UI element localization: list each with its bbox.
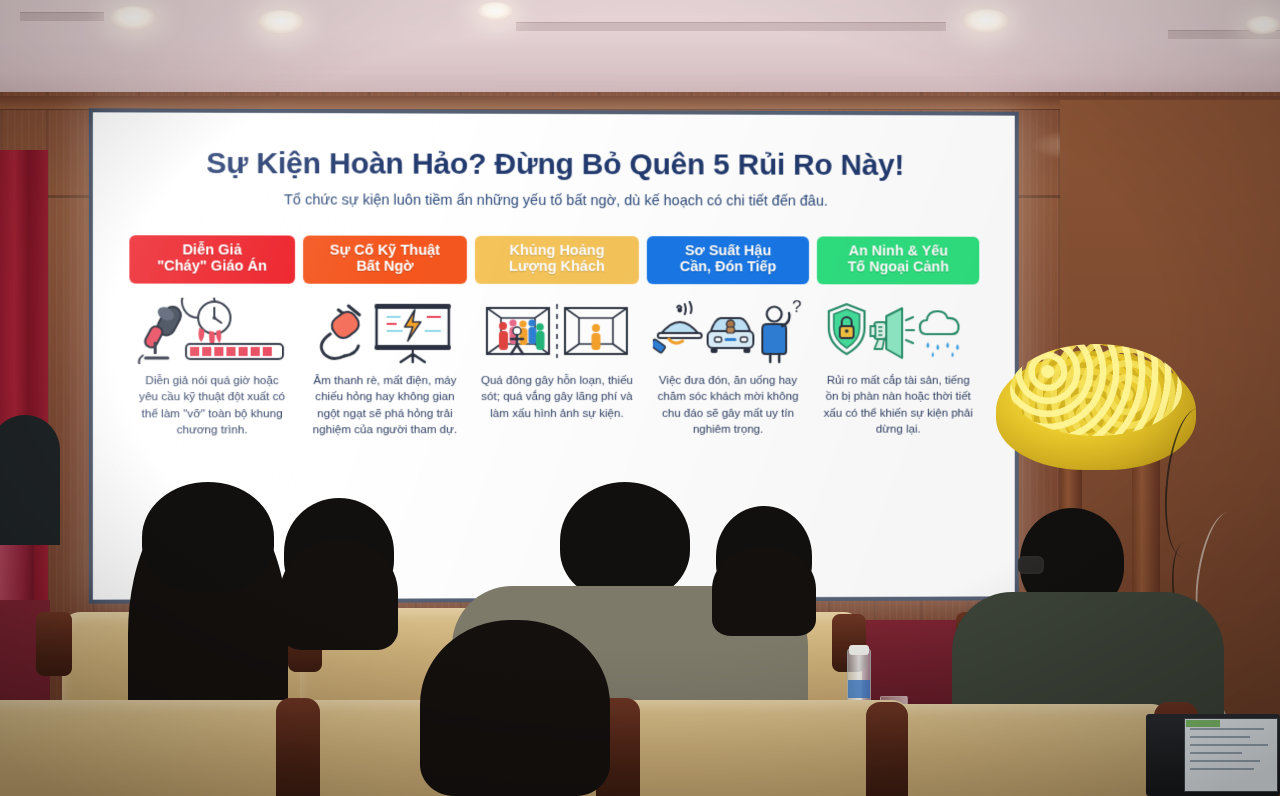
unplugged-power-plug-icon [322,305,363,358]
risk-card-3-body: Quá đông gây hỗn loạn, thiếu sót; quá vắ… [475,373,639,422]
confused-person-icon: ? [762,298,801,362]
risk-card-2-body: Âm thanh rè, mất điện, máy chiếu hỏng ha… [303,373,467,439]
melting-clock-icon [182,297,230,346]
risk-card-2[interactable]: Sự Cố Kỹ Thuật Bất Ngờ [303,236,467,439]
ceiling-light [1246,16,1280,34]
ceiling-vent [516,22,946,31]
ceiling-light [110,6,156,30]
risk-card-4-body: Việc đưa đón, ăn uống hay chăm sóc khách… [647,373,810,439]
crowded-room-icon [487,308,549,354]
ceiling-vent [20,12,104,21]
ceiling-light [477,2,513,20]
conference-room-photo: Sự Kiện Hoàn Hảo? Đừng Bỏ Quên 5 Rủi Ro … [0,0,1280,796]
risk-cards-row: Diễn Giả "Cháy" Giáo Án [119,235,989,439]
risk-card-4[interactable]: Sơ Suất Hậu Cần, Đón Tiếp [647,236,810,438]
risk-card-3-header-line1: Khủng Hoảng [479,243,635,259]
risk-card-5-header: An Ninh & Yếu Tố Ngoại Cảnh [817,237,979,284]
wall-outlet [503,603,526,619]
risk-card-4-header: Sơ Suất Hậu Cần, Đón Tiếp [647,236,810,284]
red-curtain-lower [0,430,34,796]
risk-card-3-header-line2: Lượng Khách [479,259,635,275]
risk-card-5-header-line1: An Ninh & Yếu [821,244,975,260]
megaphone-icon [871,308,915,358]
slide-subtitle: Tổ chức sự kiện luôn tiềm ẩn những yếu t… [119,191,989,211]
progress-bar-icon [186,344,283,359]
risk-card-5-header-line2: Tố Ngoại Cảnh [821,260,975,276]
risk-card-3[interactable]: Khủng Hoảng Lượng Khách [475,236,639,422]
risk-card-2-header-line2: Bất Ngờ [307,259,463,275]
risk-card-3-icons [481,297,633,365]
car-icon [707,318,753,353]
risk-card-3-header: Khủng Hoảng Lượng Khách [475,236,639,284]
wall-panel-right [1060,100,1280,796]
risk-card-1[interactable]: Diễn Giả "Cháy" Giáo Án [129,235,294,439]
risk-card-1-icons [135,296,289,364]
risk-card-1-header-line1: Diễn Giả [133,242,290,259]
risk-card-5[interactable]: An Ninh & Yếu Tố Ngoại Cảnh [817,237,979,438]
risk-card-1-header: Diễn Giả "Cháy" Giáo Án [129,235,294,283]
svg-text:?: ? [792,298,801,316]
risk-card-4-header-line2: Cần, Đón Tiếp [651,259,806,275]
risk-card-2-header-line1: Sự Cố Kỹ Thuật [307,243,463,260]
risk-card-2-header: Sự Cố Kỹ Thuật Bất Ngờ [303,236,467,284]
risk-card-4-header-line1: Sơ Suất Hậu [651,243,806,259]
risk-card-5-body: Rủi ro mất cắp tài sản, tiếng ồn bị phàn… [817,372,979,438]
risk-card-2-icons [309,296,462,364]
page-title: Sự Kiện Hoàn Hảo? Đừng Bỏ Quên 5 Rủi Ro … [119,147,989,182]
serving-tray-icon [652,302,701,353]
empty-room-icon [565,308,627,354]
risk-card-1-body: Diễn giả nói quá giờ hoặc yêu cầu kỹ thu… [129,373,294,439]
ceiling-light [963,9,1009,33]
microphone-icon [139,303,184,363]
shield-lock-icon [829,304,865,354]
rain-cloud-icon [920,311,959,357]
projection-screen[interactable]: Sự Kiện Hoàn Hảo? Đừng Bỏ Quên 5 Rủi Ro … [93,112,1015,599]
risk-card-5-icons [823,297,973,365]
risk-card-4-icons: ? [652,297,803,365]
risk-card-1-header-line2: "Cháy" Giáo Án [133,259,290,276]
projector-screen-lightning-icon [375,303,451,361]
slide: Sự Kiện Hoàn Hảo? Đừng Bỏ Quên 5 Rủi Ro … [93,112,1015,599]
ceiling [0,0,1280,96]
ceiling-light [258,10,304,34]
